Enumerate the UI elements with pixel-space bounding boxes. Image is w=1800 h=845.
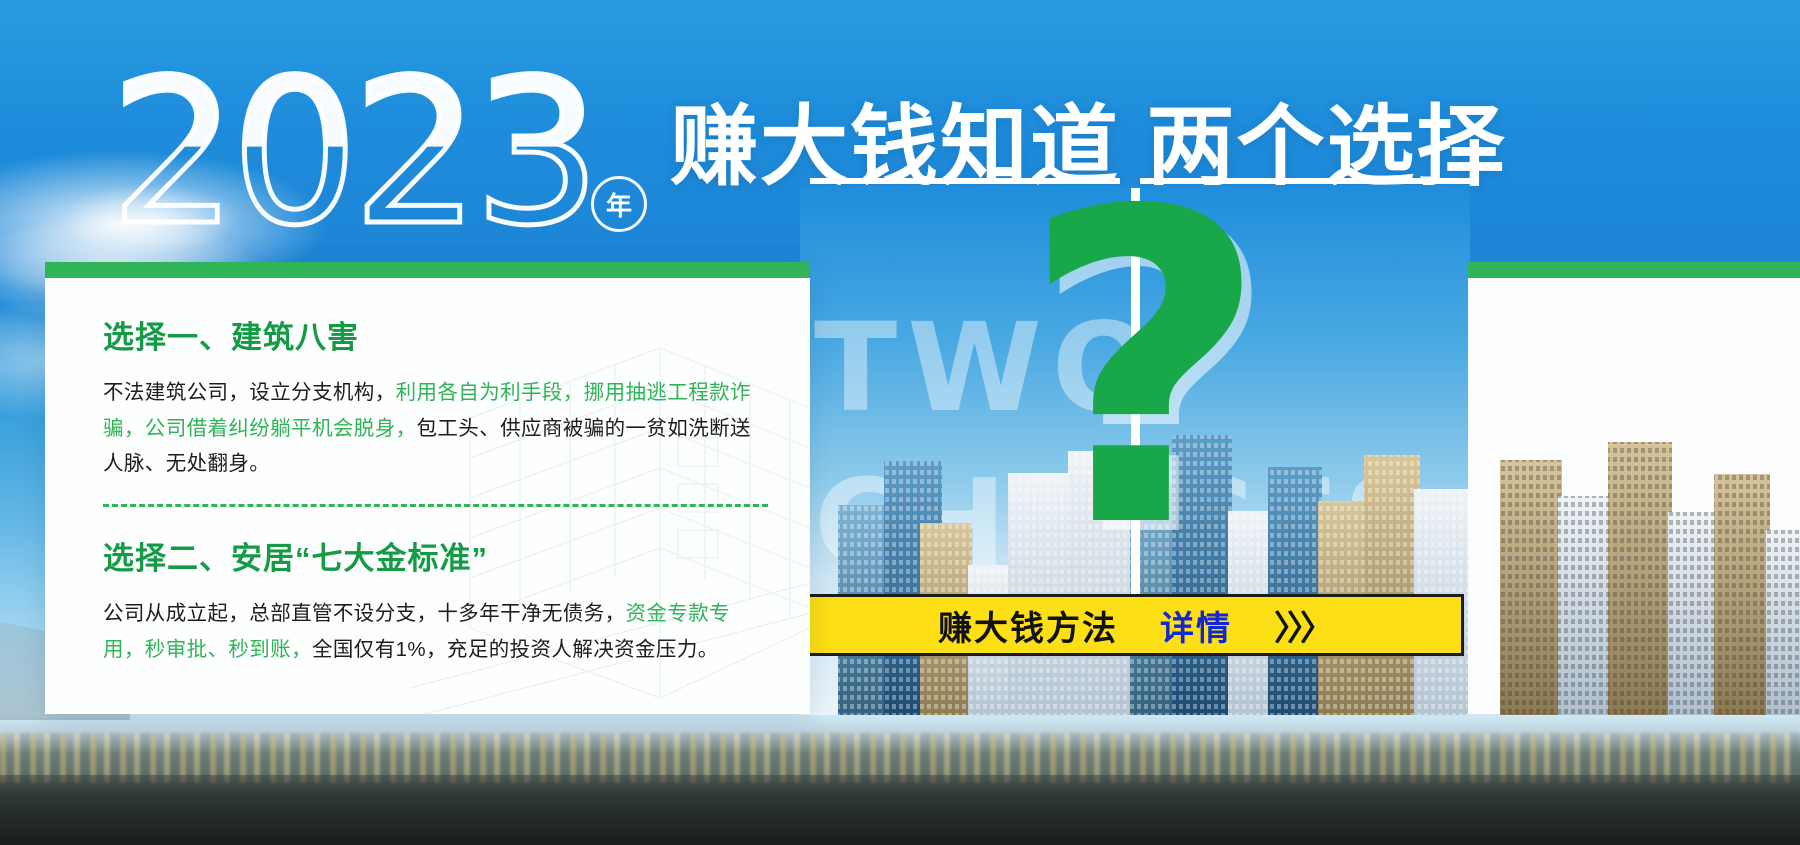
right-green-accent [1468,262,1800,278]
right-city-image [1500,420,1800,715]
headline-rule-left [810,178,1120,184]
section-two-paragraph: 公司从成立起，总部直管不设分支，十多年干净无债务，资金专款专用，秒审批、秒到账，… [103,596,768,667]
chevron-right-icon: 〉〉〉 [1274,601,1330,650]
panel-vertical-divider [1131,188,1140,603]
cta-details-link[interactable]: 详情 [1160,601,1232,650]
card-top-accent-bar [45,262,810,278]
card-body: 选择一、建筑八害 不法建筑公司，设立分支机构，利用各自为利手段，挪用抽逃工程款诈… [45,278,810,667]
section-two-title: 选择二、安居“七大金标准” [103,533,768,578]
right-skyline-svg [1500,420,1800,715]
section-one-title: 选择一、建筑八害 [103,312,768,357]
section-two-text-a: 公司从成立起，总部直管不设分支，十多年干净无债务， [103,602,626,625]
waterfront-strip [0,715,1800,845]
section-two-text-c: 全国仅有1%，充足的投资人解决资金压力。 [312,638,719,661]
city-skyline-image [828,415,1470,715]
promo-banner: 2023 2023 年 赚大钱知道 两个选择 TWO CHOICES [0,0,1800,845]
card-section-one: 选择一、建筑八害 不法建筑公司，设立分支机构，利用各自为利手段，挪用抽逃工程款诈… [103,312,768,482]
section-one-text-a: 不法建筑公司，设立分支机构， [103,381,396,404]
skyline-svg [828,415,1470,715]
headline-rule-right [1140,178,1470,184]
content-card: 选择一、建筑八害 不法建筑公司，设立分支机构，利用各自为利手段，挪用抽逃工程款诈… [45,262,810,714]
cta-main-label: 赚大钱方法 [938,601,1118,650]
card-section-two: 选择二、安居“七大金标准” 公司从成立起，总部直管不设分支，十多年干净无债务，资… [103,533,768,667]
section-one-paragraph: 不法建筑公司，设立分支机构，利用各自为利手段，挪用抽逃工程款诈骗，公司借着纠纷躺… [103,375,768,482]
section-divider [103,504,768,507]
cta-banner[interactable]: 赚大钱方法 详情 〉〉〉 [804,594,1464,656]
